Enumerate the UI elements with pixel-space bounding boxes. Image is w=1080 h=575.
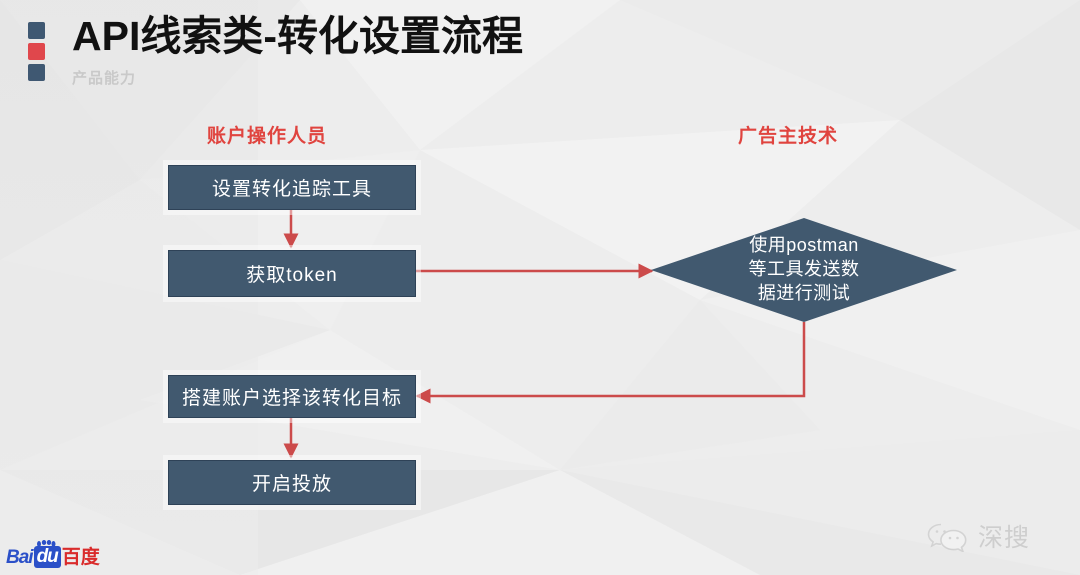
flow-node-build-account-select-conversion-goal[interactable]: 搭建账户选择该转化目标 <box>168 375 416 418</box>
flow-node-get-token[interactable]: 获取token <box>168 250 416 297</box>
baidu-logo-bai: Bai <box>6 548 33 567</box>
diamond-label-line-1: 使用postman <box>749 234 859 258</box>
edge-diamond-to-node3 <box>417 322 804 396</box>
slide-canvas: API线索类-转化设置流程 产品能力 账户操作人员 广告主技术 设置转化追踪工具… <box>0 0 1080 575</box>
watermark-text: 深搜 <box>978 518 1030 554</box>
paw-icon <box>36 540 56 548</box>
flow-node-set-conversion-tracking-tool[interactable]: 设置转化追踪工具 <box>168 165 416 210</box>
baidu-logo-du-text: du <box>37 546 58 567</box>
diamond-label: 使用postman 等工具发送数 据进行测试 <box>651 218 957 322</box>
baidu-logo-chinese: 百度 <box>62 548 100 567</box>
flow-node-start-delivery[interactable]: 开启投放 <box>168 460 416 505</box>
diamond-label-line-3: 据进行测试 <box>758 282 851 306</box>
flow-node-decision-send-test-data[interactable]: 使用postman 等工具发送数 据进行测试 <box>651 218 957 322</box>
baidu-logo: Bai du 百度 <box>6 546 100 568</box>
wechat-watermark: 深搜 <box>925 518 1030 554</box>
wechat-icon <box>925 520 971 552</box>
diamond-label-line-2: 等工具发送数 <box>749 258 860 282</box>
baidu-logo-du: du <box>34 546 61 568</box>
